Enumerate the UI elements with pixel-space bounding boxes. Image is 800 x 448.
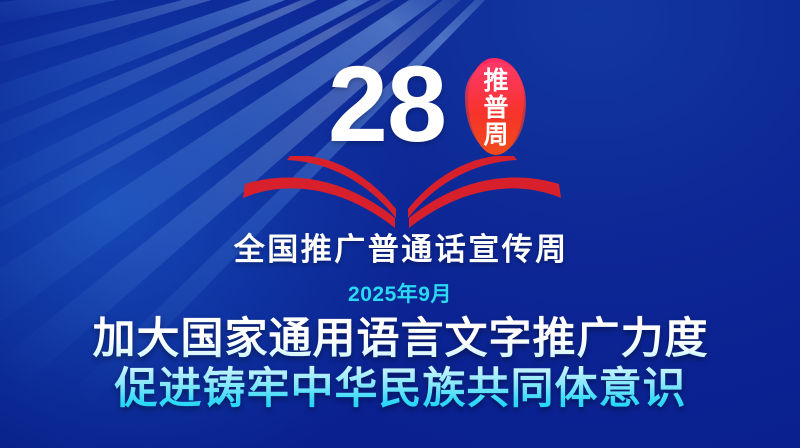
edition-number-row: 28 (0, 52, 800, 160)
edition-number: 28 (328, 52, 446, 156)
seal-char-2: 普 (483, 95, 508, 122)
logo-block: 28 推 普 周 (0, 52, 800, 232)
seal-char-3: 周 (483, 122, 508, 149)
tuipuzhou-seal: 推 普 周 (468, 58, 524, 155)
seal-char-1: 推 (483, 68, 508, 95)
open-book-icon (235, 156, 565, 234)
page-title: 全国推广普通话宣传周 (0, 233, 800, 267)
poster-canvas: 28 推 普 周 全国推广普通话宣传周 2025年9月 (0, 0, 800, 448)
slogan-line-2: 促进铸牢中华民族共同体意识 (0, 364, 800, 414)
slogan-block: 加大国家通用语言文字推广力度 促进铸牢中华民族共同体意识 (0, 314, 800, 414)
seal-characters: 推 普 周 (468, 58, 524, 155)
slogan-line-1: 加大国家通用语言文字推广力度 (0, 314, 800, 364)
event-date: 2025年9月 (0, 283, 800, 307)
